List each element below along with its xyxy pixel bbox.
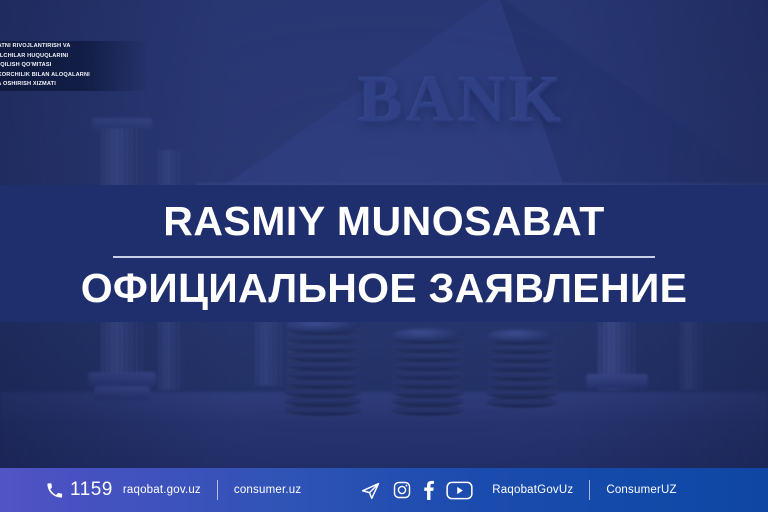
logo-line: RAQOBATNI RIVOJLANTIRISH VA [0, 42, 90, 52]
logo-line: AMALGA OSHIRISH XIZMATI [0, 80, 90, 90]
social-handle-consumer[interactable]: ConsumerUZ [606, 484, 676, 496]
title-uzbek: RASMIY MUNOSABAT [163, 201, 605, 242]
footer-social-group: RaqobatGovUz ConsumerUZ [360, 480, 676, 501]
instagram-icon[interactable] [392, 480, 412, 500]
footer-divider-2 [589, 480, 590, 500]
organization-logo-plaque: RAQOBATNI RIVOJLANTIRISH VA ISTE'MOLCHIL… [0, 41, 148, 91]
youtube-icon[interactable] [446, 481, 473, 500]
social-handle-raqobat[interactable]: RaqobatGovUz [492, 484, 573, 496]
logo-line: HIMOYA QILISH QO'MITASI [0, 61, 90, 71]
hotline-number[interactable]: 1159 [70, 479, 113, 501]
title-divider-rule [113, 256, 655, 258]
logo-line: ISTE'MOLCHILAR HUQUQLARINI [0, 52, 90, 62]
website-consumer-link[interactable]: consumer.uz [234, 484, 301, 496]
facebook-icon[interactable] [423, 480, 435, 500]
announcement-title-band: RASMIY MUNOSABAT ОФИЦИАЛЬНОЕ ЗАЯВЛЕНИЕ [0, 185, 768, 322]
phone-icon [46, 482, 63, 499]
footer-contact-group: 1159 raqobat.gov.uz consumer.uz [46, 479, 301, 501]
title-russian: ОФИЦИАЛЬНОЕ ЗАЯВЛЕНИЕ [81, 268, 688, 309]
organization-logo-text: RAQOBATNI RIVOJLANTIRISH VA ISTE'MOLCHIL… [0, 42, 90, 90]
footer-divider-1 [217, 480, 218, 500]
contact-footer-bar: 1159 raqobat.gov.uz consumer.uz [0, 468, 768, 512]
logo-line: TADBIRKORCHILIK BILAN ALOQALARNI [0, 71, 90, 81]
website-raqobat-link[interactable]: raqobat.gov.uz [123, 484, 201, 496]
telegram-icon[interactable] [360, 480, 381, 501]
